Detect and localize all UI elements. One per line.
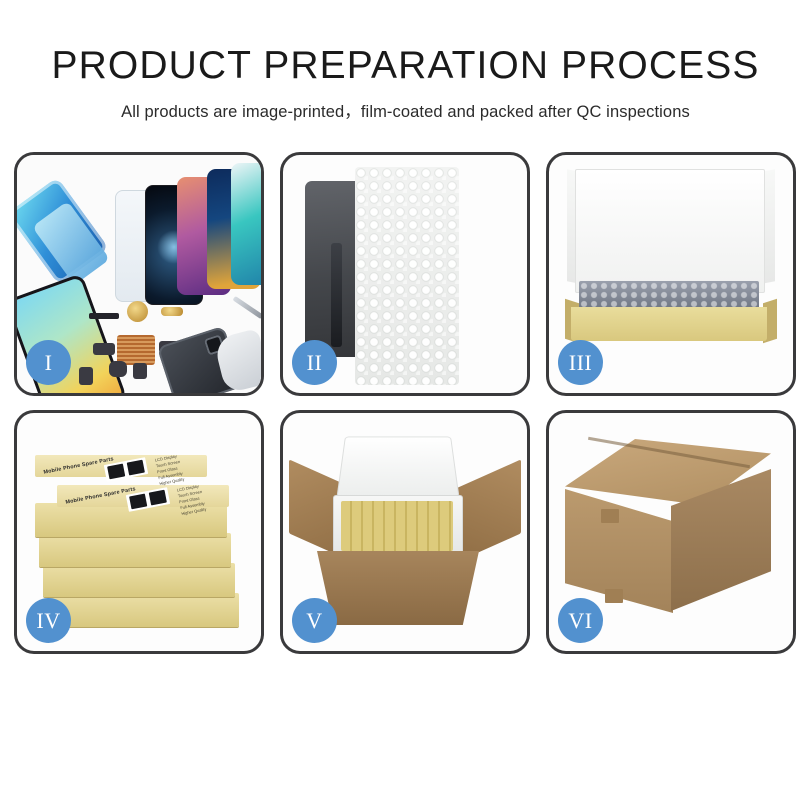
stacked-box-5	[47, 593, 239, 627]
step-panel-3: III	[546, 152, 796, 396]
battery-connector-component	[133, 363, 147, 379]
step-badge-5: V	[292, 598, 337, 643]
earpiece-component	[89, 313, 119, 319]
phone-display-teal	[231, 163, 264, 285]
tweezers-tool	[233, 296, 264, 319]
stacked-box-3	[39, 533, 231, 567]
step-badge-4: IV	[26, 598, 71, 643]
box-spec-list-1: LCD Display Touch Screen Front Glass Ful…	[154, 453, 185, 487]
step-panel-6: VI	[546, 410, 796, 654]
step-badge-3: III	[558, 340, 603, 385]
carton-body	[317, 551, 479, 625]
camera-module-component	[109, 361, 127, 377]
carton-tape-lower	[605, 589, 623, 603]
sim-card-component	[79, 367, 93, 385]
step-badge-1: I	[26, 340, 71, 385]
box-lid-panel	[575, 169, 765, 293]
box-front-panel	[571, 307, 767, 341]
step-panel-5: V	[280, 410, 530, 654]
step-panel-4: Mobile Phone Spare Parts LCD Display Tou…	[14, 410, 264, 654]
process-step-grid: I II	[14, 152, 797, 742]
step-badge-6: VI	[558, 598, 603, 643]
stacked-box-4	[43, 563, 235, 597]
bubble-wrap-sheet	[355, 167, 459, 385]
sim-tray-component	[161, 307, 183, 316]
speaker-component	[127, 301, 148, 322]
step-badge-2: II	[292, 340, 337, 385]
page-title: PRODUCT PREPARATION PROCESS	[0, 0, 811, 87]
carton-tape-upper	[601, 509, 619, 523]
wrapped-flex-cable	[331, 243, 342, 347]
foam-cooler-lid	[336, 437, 459, 498]
page-subtitle: All products are image-printed，film-coat…	[0, 87, 811, 122]
infographic-page: PRODUCT PREPARATION PROCESS All products…	[0, 0, 811, 811]
yellow-boxes-inside	[341, 501, 453, 551]
box-spec-list-2: LCD Display Touch Screen Front Glass Ful…	[176, 483, 207, 517]
flex-cable-left	[93, 343, 115, 355]
header: PRODUCT PREPARATION PROCESS All products…	[0, 0, 811, 122]
step-panel-2: II	[280, 152, 530, 396]
step-panel-1: I	[14, 152, 264, 396]
